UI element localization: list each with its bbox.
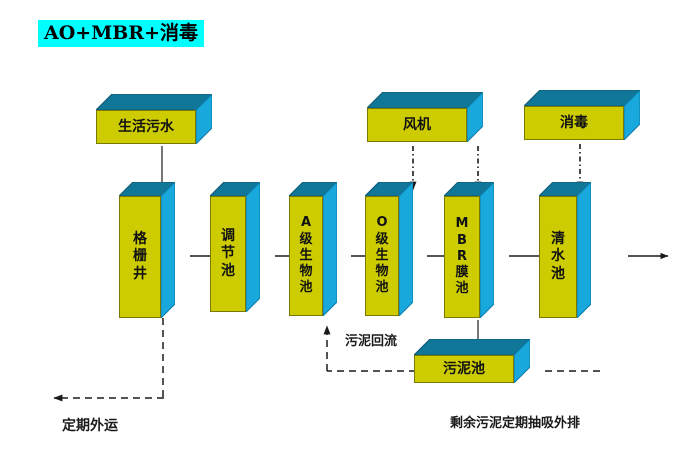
box-front-face: 生活污水 bbox=[96, 110, 196, 144]
box-side-face bbox=[399, 182, 413, 316]
box-front-face: 风机 bbox=[367, 108, 467, 142]
grating-to-haul-route bbox=[54, 318, 164, 398]
box-top-face bbox=[414, 339, 530, 355]
box-grating-well: 格栅井 bbox=[119, 182, 175, 318]
box-front-face: O级生物池 bbox=[365, 196, 399, 316]
box-sludge-tank: 污泥池 bbox=[414, 339, 530, 383]
box-label-mbr-tank: MBR膜池 bbox=[455, 216, 469, 297]
box-label-sludge-tank: 污泥池 bbox=[443, 362, 485, 376]
annotation-sludge-return: 污泥回流 bbox=[345, 330, 397, 349]
box-front-face: MBR膜池 bbox=[444, 196, 480, 318]
box-front-face: 消毒 bbox=[524, 106, 624, 140]
box-label-anoxic-tank: A级生物池 bbox=[299, 215, 313, 296]
box-disinfection: 消毒 bbox=[524, 90, 640, 140]
box-side-face bbox=[246, 182, 260, 312]
box-label-oxic-tank: O级生物池 bbox=[375, 215, 389, 296]
flow-diagram-canvas: AO+MBR+消毒 bbox=[0, 0, 700, 450]
box-front-face: 清水池 bbox=[539, 196, 577, 318]
box-label-blower: 风机 bbox=[403, 118, 431, 132]
box-label-influent: 生活污水 bbox=[118, 120, 174, 134]
box-anoxic-tank: A级生物池 bbox=[289, 182, 337, 316]
box-front-face: A级生物池 bbox=[289, 196, 323, 316]
box-front-face: 污泥池 bbox=[414, 355, 514, 383]
box-label-equalization: 调节池 bbox=[221, 228, 236, 281]
box-front-face: 调节池 bbox=[210, 196, 246, 312]
box-side-face bbox=[323, 182, 337, 316]
box-clearwell: 清水池 bbox=[539, 182, 591, 318]
box-label-clearwell: 清水池 bbox=[551, 231, 566, 284]
box-top-face bbox=[367, 92, 483, 108]
connector-layer bbox=[0, 0, 700, 450]
box-front-face: 格栅井 bbox=[119, 196, 161, 318]
box-top-face bbox=[96, 94, 212, 110]
box-side-face bbox=[480, 182, 494, 318]
box-top-face bbox=[524, 90, 640, 106]
annotation-excess-sludge: 剩余污泥定期抽吸外排 bbox=[450, 412, 580, 431]
box-side-face bbox=[577, 182, 591, 318]
box-mbr-tank: MBR膜池 bbox=[444, 182, 494, 318]
box-influent: 生活污水 bbox=[96, 94, 212, 144]
annotation-periodic-haul: 定期外运 bbox=[62, 415, 118, 435]
box-label-disinfection: 消毒 bbox=[560, 116, 588, 130]
box-oxic-tank: O级生物池 bbox=[365, 182, 413, 316]
box-side-face bbox=[161, 182, 175, 318]
box-equalization: 调节池 bbox=[210, 182, 260, 312]
box-blower: 风机 bbox=[367, 92, 483, 142]
box-label-grating-well: 格栅井 bbox=[133, 231, 148, 284]
